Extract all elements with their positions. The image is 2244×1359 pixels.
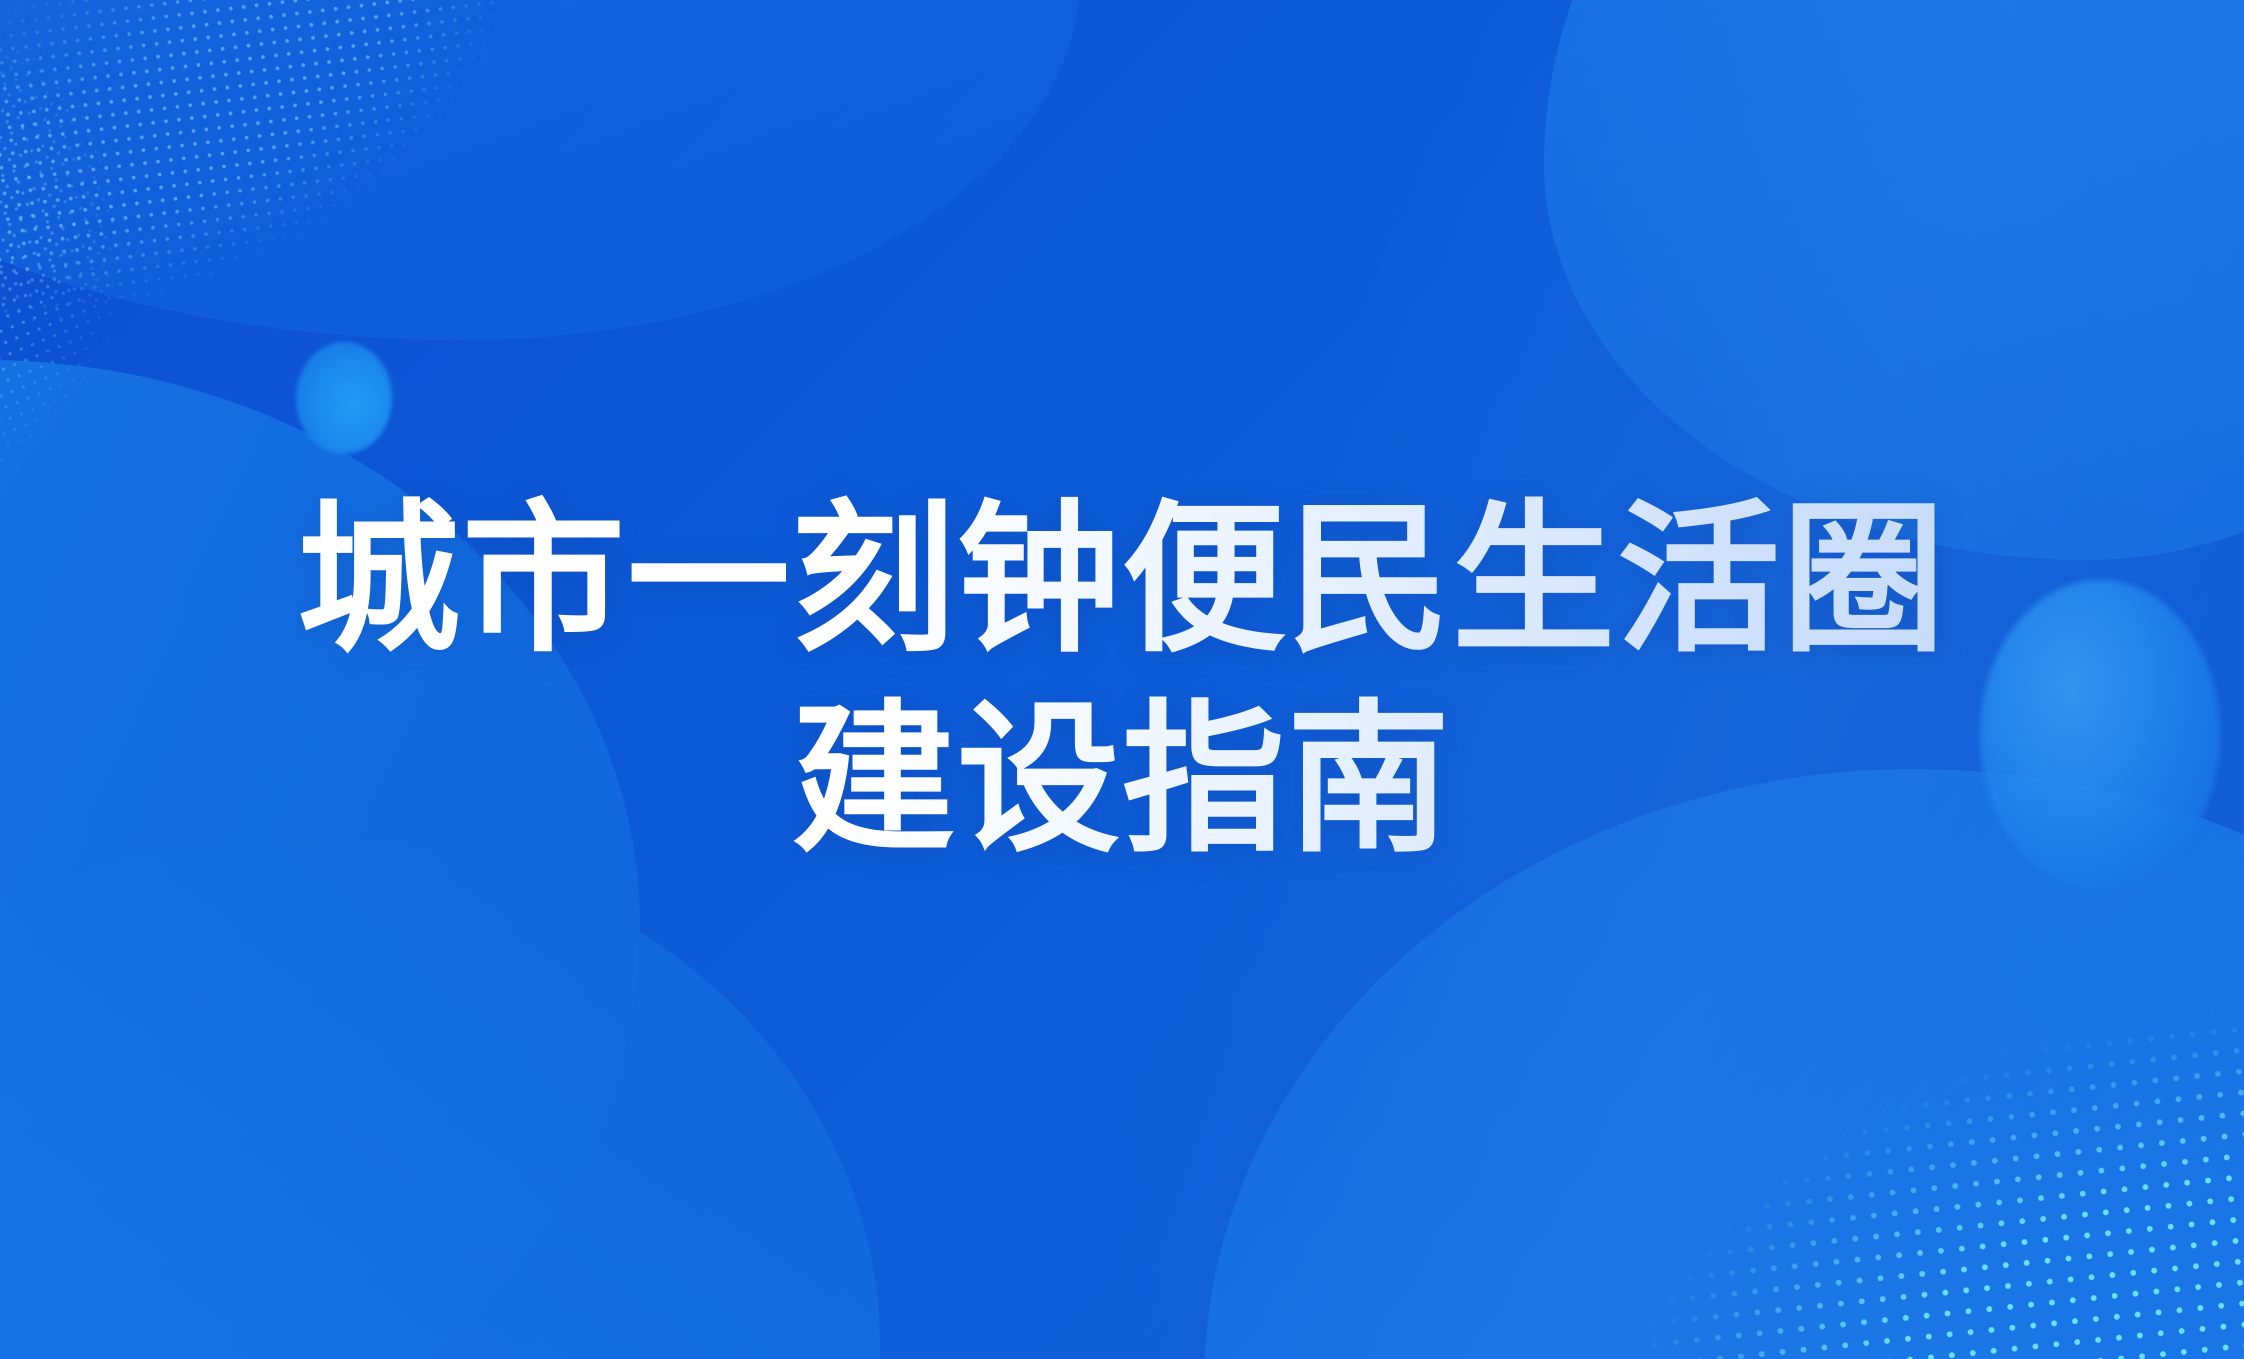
poster-banner: 城市一刻钟便民生活圈 建设指南 xyxy=(0,0,2244,1359)
poster-title: 城市一刻钟便民生活圈 建设指南 xyxy=(297,485,1947,873)
poster-content: 城市一刻钟便民生活圈 建设指南 xyxy=(0,0,2244,1359)
poster-title-line-2: 建设指南 xyxy=(297,685,1947,874)
poster-title-line-1: 城市一刻钟便民生活圈 xyxy=(297,485,1947,674)
